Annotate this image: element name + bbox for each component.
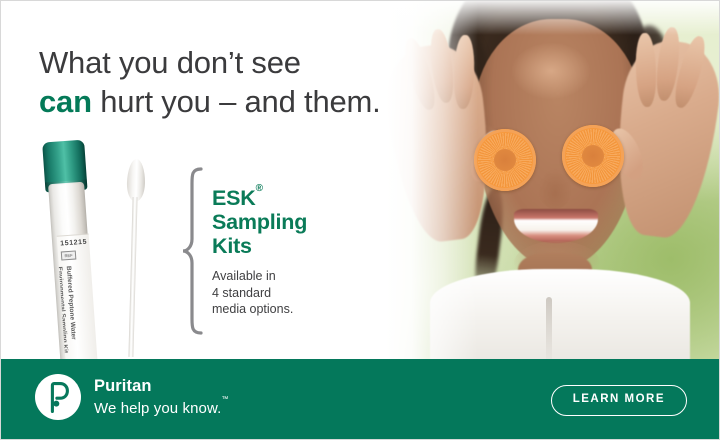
product-callout-subtext: Available in 4 standard media options. [212,268,362,318]
trademark-mark: ™ [221,396,228,403]
tube-ref-badge: REF [61,250,77,260]
photo-carrot-slice-left [474,129,536,191]
registered-mark: ® [256,183,263,194]
brand-text: Puritan We help you know.™ [94,377,228,418]
photo-nose [538,169,572,209]
photo-carrot-slice-right [562,125,624,187]
swab-tip [126,159,145,201]
learn-more-button[interactable]: LEARN MORE [551,385,687,416]
brand-lockup[interactable]: Puritan We help you know.™ [35,374,228,420]
subtext-line-1: Available in [212,269,276,283]
brand-name: Puritan [94,377,228,396]
subtext-line-2: 4 standard [212,286,271,300]
puritan-logo-icon [35,374,81,420]
sampling-swab [122,159,145,357]
photo-carrot-core [582,145,604,167]
tagline-text: We help you know. [94,400,221,417]
product-callout-line-3: Kits [212,234,252,258]
tube-label: 151215 REF Environmental Sampling Kit Bu… [57,234,98,363]
footer-bar: Puritan We help you know.™ LEARN MORE [1,359,719,440]
photo-left-fade [386,1,478,360]
product-imagery: 151215 REF Environmental Sampling Kit Bu… [1,1,181,361]
product-callout-line-2: Sampling [212,210,307,234]
curly-brace-icon [181,167,203,335]
brand-tagline: We help you know.™ [94,397,228,418]
photo-forehead-highlight [512,43,590,99]
tube-body: 151215 REF Environmental Sampling Kit Bu… [48,182,96,362]
product-callout-title: ESK® Sampling Kits [212,183,362,258]
subtext-line-3: media options. [212,302,293,316]
hero-photo-girl-with-carrot-slices [386,1,720,360]
tube-lot-number: 151215 [60,239,87,248]
sample-collection-tube: 151215 REF Environmental Sampling Kit Bu… [45,182,99,362]
product-callout: ESK® Sampling Kits Available in 4 standa… [212,183,362,318]
swab-shaft [128,197,137,357]
advertisement-banner: What you don’t see can hurt you – and th… [0,0,720,440]
product-name: ESK [212,186,256,210]
photo-shirt-placket [546,297,552,360]
photo-top-fade [386,1,720,35]
photo-carrot-core [494,149,516,171]
